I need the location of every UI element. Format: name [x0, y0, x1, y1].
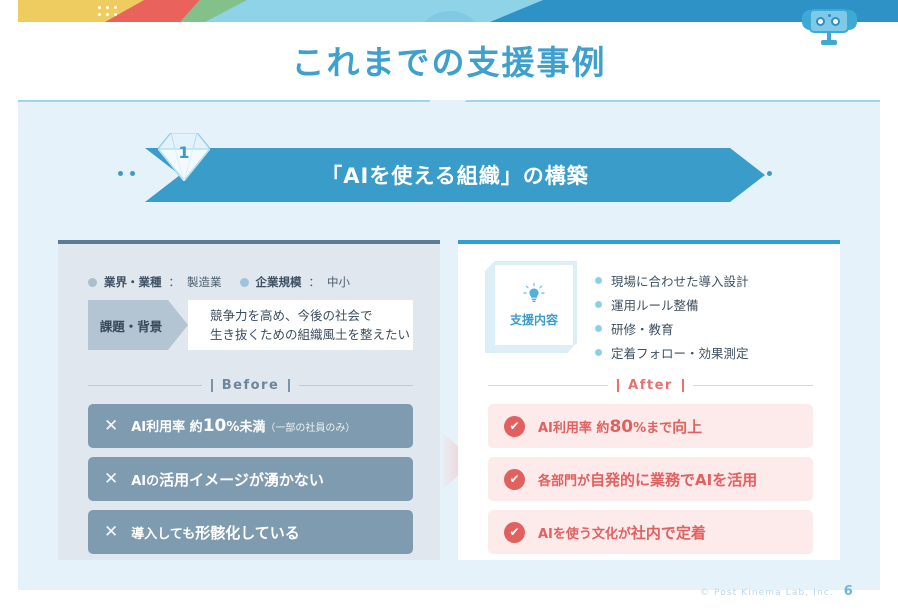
after-item-emphasis: 社内で定着	[631, 524, 706, 542]
after-divider: After	[488, 378, 813, 393]
after-label: After	[628, 378, 673, 393]
top-decoration-bar	[0, 0, 898, 22]
before-label: Before	[222, 378, 280, 393]
meta-industry-sep: ：	[169, 274, 181, 290]
after-item-emphasis: 向上	[672, 418, 702, 436]
divider-bar-left	[211, 379, 213, 392]
after-item-middle: まで	[646, 421, 672, 436]
support-bullet-text: 運用ルール整備	[611, 295, 699, 314]
section-banner-shape: 「AIを使える組織」の構築	[145, 148, 765, 202]
meta-industry-label: 業界・業種	[104, 274, 162, 290]
issue-line-2: 生き抜くための組織風土を整えたい	[210, 325, 413, 344]
issue-background-row: 課題・背景 競争力を高め、今後の社会で 生き抜くための組織風土を整えたい	[88, 300, 413, 350]
robot-forehead-dot	[828, 14, 831, 17]
before-item-unit: %	[226, 420, 239, 435]
before-divider: Before	[88, 378, 413, 393]
divider-line-left	[88, 385, 202, 386]
after-item-prefix: AI利用率 約	[538, 421, 609, 436]
divider-line-left	[488, 385, 608, 386]
issue-body: 競争力を高め、今後の社会で 生き抜くための組織風土を整えたい	[188, 300, 413, 350]
list-item: 定着フォロー・効果測定	[595, 340, 830, 364]
after-item-text: AI利用率 約80%まで向上	[538, 416, 702, 437]
meta-company-size-sep: ：	[309, 274, 321, 290]
before-item-emphasis: 形骸化している	[195, 524, 300, 542]
bullet-dot-icon	[240, 278, 249, 287]
lightbulb-icon	[522, 282, 546, 306]
check-icon: ✔	[504, 522, 525, 543]
after-item-prefix: AIを使う文化が	[538, 527, 631, 542]
bullet-dot-icon	[595, 325, 602, 332]
meta-company-size: 企業規模 ： 中小	[240, 274, 351, 290]
support-box-label: 支援内容	[510, 311, 558, 328]
banner-dots-right	[755, 171, 779, 177]
meta-company-size-label: 企業規模	[256, 274, 302, 290]
section-banner-title: 「AIを使える組織」の構築	[321, 160, 588, 190]
copyright-text: © Post Kinema Lab, Inc.	[700, 588, 834, 598]
before-item-prefix: AIの	[131, 474, 159, 489]
list-item: 現場に合わせた導入設計	[595, 268, 830, 292]
after-item-number: 80	[609, 417, 633, 437]
list-item: 研修・教育	[595, 316, 830, 340]
robot-eye-left	[816, 17, 825, 26]
cross-icon: ✕	[104, 524, 118, 541]
before-item-emphasis: 活用イメージが湧かない	[159, 471, 324, 489]
decor-dot-grid	[98, 4, 140, 19]
check-icon: ✔	[504, 416, 525, 437]
before-item-text: AI利用率 約10%未満（一部の社員のみ）	[131, 416, 355, 436]
divider-bar-right	[682, 379, 684, 392]
before-item-text: 導入しても形骸化している	[131, 522, 300, 543]
before-item-prefix: AI利用率 約	[131, 420, 202, 435]
before-item: ✕ AIの活用イメージが湧かない	[88, 457, 413, 501]
after-item: ✔ 各部門が自発的に業務でAIを活用	[488, 457, 813, 501]
divider-line-right	[693, 385, 813, 386]
issue-line-1: 競争力を高め、今後の社会で	[210, 306, 413, 325]
support-bullet-text: 現場に合わせた導入設計	[611, 271, 749, 290]
robot-head	[809, 9, 849, 33]
page-title: これまでの支援事例	[0, 36, 898, 84]
gem-number: 1	[158, 143, 210, 162]
meta-row: 業界・業種 ： 製造業 企業規模 ： 中小	[88, 274, 350, 290]
after-item-text: AIを使う文化が社内で定着	[538, 522, 706, 543]
check-icon: ✔	[504, 469, 525, 490]
after-item-prefix: 各部門が	[538, 474, 590, 489]
before-item-suffix: 未満	[239, 420, 265, 435]
bullet-dot-icon	[595, 349, 602, 356]
meta-industry: 業界・業種 ： 製造業	[88, 274, 222, 290]
divider-bar-right	[288, 379, 290, 392]
gem-icon: 1	[158, 133, 210, 181]
bullet-dot-icon	[595, 301, 602, 308]
before-item: ✕ 導入しても形骸化している	[88, 510, 413, 554]
bullet-dot-icon	[88, 278, 97, 287]
meta-industry-value: 製造業	[187, 274, 222, 290]
meta-company-size-value: 中小	[327, 274, 350, 290]
before-item-number: 10	[203, 416, 227, 436]
before-item-text: AIの活用イメージが湧かない	[131, 469, 324, 490]
footer: © Post Kinema Lab, Inc. 6	[700, 584, 853, 599]
before-item: ✕ AI利用率 約10%未満（一部の社員のみ）	[88, 404, 413, 448]
cross-icon: ✕	[104, 418, 118, 435]
after-item: ✔ AI利用率 約80%まで向上	[488, 404, 813, 448]
before-item-prefix: 導入しても	[131, 527, 195, 542]
robot-eye-right	[831, 17, 840, 26]
list-item: 運用ルール整備	[595, 292, 830, 316]
support-bullet-list: 現場に合わせた導入設計 運用ルール整備 研修・教育 定着フォロー・効果測定	[595, 268, 830, 364]
after-item-unit: %	[633, 421, 646, 436]
banner-dots-left	[118, 171, 142, 177]
section-banner: 「AIを使える組織」の構築	[145, 148, 765, 202]
case-card-before: 業界・業種 ： 製造業 企業規模 ： 中小 課題・背景 競争力を高め、今後の社会…	[58, 240, 440, 560]
after-item: ✔ AIを使う文化が社内で定着	[488, 510, 813, 554]
page-number: 6	[844, 584, 853, 599]
support-bullet-text: 研修・教育	[611, 319, 674, 338]
divider-line-right	[299, 385, 413, 386]
issue-tag: 課題・背景	[88, 300, 188, 350]
after-item-emphasis: 自発的に業務でAIを活用	[590, 471, 757, 489]
before-item-note: （一部の社員のみ）	[265, 423, 355, 434]
after-item-text: 各部門が自発的に業務でAIを活用	[538, 469, 757, 490]
bullet-dot-icon	[595, 277, 602, 284]
cross-icon: ✕	[104, 471, 118, 488]
support-box: 支援内容	[495, 265, 573, 345]
divider-bar-left	[617, 379, 619, 392]
support-bullet-text: 定着フォロー・効果測定	[611, 343, 749, 362]
